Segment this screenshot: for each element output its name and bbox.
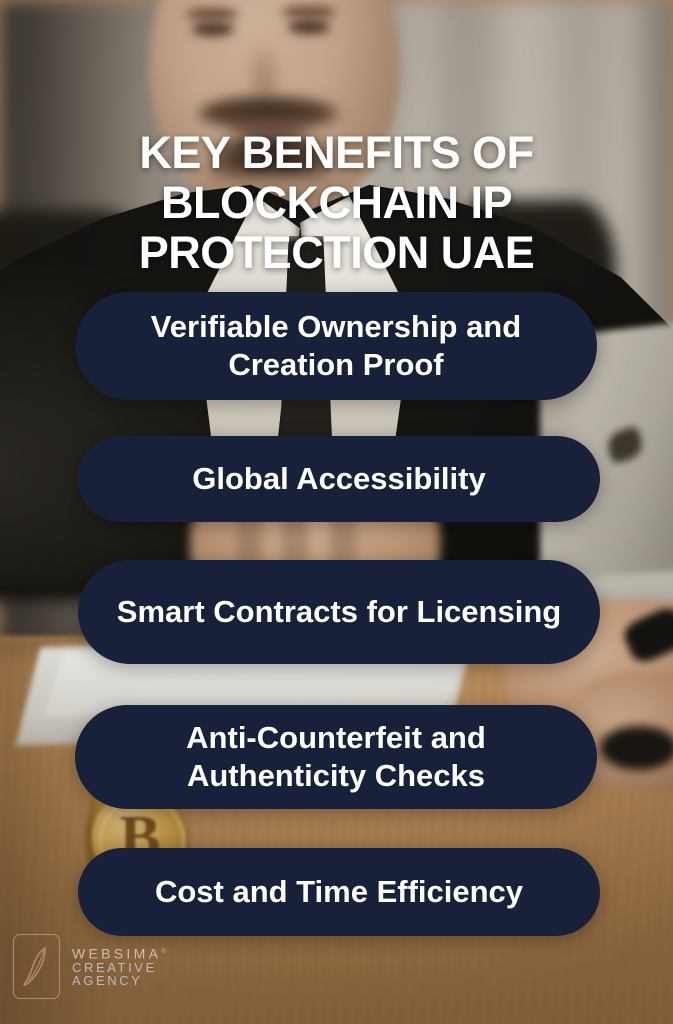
feather-icon bbox=[20, 942, 53, 991]
benefit-label: Cost and Time Efficiency bbox=[155, 873, 523, 911]
brand-name: WEBSIMA® bbox=[72, 946, 166, 961]
benefit-label: Global Accessibility bbox=[192, 460, 485, 498]
benefit-card-cost-time-efficiency[interactable]: Cost and Time Efficiency bbox=[78, 848, 600, 936]
benefit-card-smart-contracts[interactable]: Smart Contracts for Licensing bbox=[78, 560, 600, 664]
benefit-label: Anti-Counterfeit and Authenticity Checks bbox=[109, 719, 563, 795]
benefit-label: Smart Contracts for Licensing bbox=[117, 593, 561, 631]
benefit-card-anti-counterfeit[interactable]: Anti-Counterfeit and Authenticity Checks bbox=[75, 705, 597, 809]
trademark-symbol: ® bbox=[161, 949, 165, 955]
infographic-poster: B KEY BENEFITS OF BLOCKCHAIN IP PROTECTI… bbox=[0, 0, 673, 1024]
brand-text: WEBSIMA® CREATIVE AGENCY bbox=[72, 946, 166, 987]
brand-tagline-1: CREATIVE bbox=[72, 961, 166, 974]
brand-tagline-2: AGENCY bbox=[72, 974, 166, 987]
feather-logo-frame bbox=[13, 934, 60, 999]
page-title: KEY BENEFITS OF BLOCKCHAIN IP PROTECTION… bbox=[0, 128, 673, 278]
poster-content: KEY BENEFITS OF BLOCKCHAIN IP PROTECTION… bbox=[0, 0, 673, 1024]
benefit-card-verifiable-ownership[interactable]: Verifiable Ownership and Creation Proof bbox=[75, 292, 597, 400]
benefit-label: Verifiable Ownership and Creation Proof bbox=[109, 308, 563, 384]
brand-watermark[interactable]: WEBSIMA® CREATIVE AGENCY bbox=[13, 934, 166, 999]
benefit-card-global-accessibility[interactable]: Global Accessibility bbox=[78, 436, 600, 522]
